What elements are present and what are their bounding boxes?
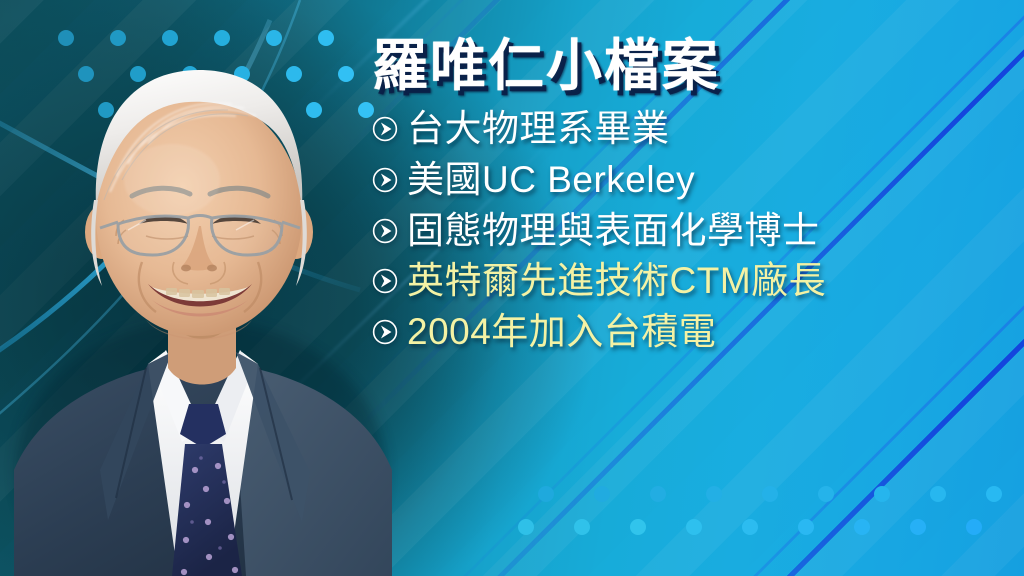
dot <box>966 519 982 535</box>
dot <box>318 30 334 46</box>
dot <box>182 66 198 82</box>
dot <box>98 102 114 118</box>
dot <box>874 486 890 502</box>
dot-row <box>538 486 1002 502</box>
dot <box>518 519 534 535</box>
graphic-stage: 羅唯仁小檔案 台大物理系畢業 美國UC Berkeley <box>0 0 1024 576</box>
dot <box>214 30 230 46</box>
list-item: 台大物理系畢業 <box>372 107 1012 151</box>
dot <box>594 486 610 502</box>
dot <box>762 486 778 502</box>
dot <box>110 30 126 46</box>
list-item: 美國UC Berkeley <box>372 158 1012 202</box>
list-item-label: 英特爾先進技術CTM廠長 <box>407 259 826 303</box>
dot <box>306 102 322 118</box>
list-item-label: 固態物理與表面化學博士 <box>407 209 820 253</box>
circled-play-arrow-icon <box>372 167 398 193</box>
list-item: 2004年加入台積電 <box>372 310 1012 354</box>
dot <box>706 486 722 502</box>
list-item: 固態物理與表面化學博士 <box>372 209 1012 253</box>
dot <box>538 486 554 502</box>
dot <box>150 102 166 118</box>
dot <box>986 486 1002 502</box>
dot-row <box>98 102 374 118</box>
dot <box>78 66 94 82</box>
dot <box>798 519 814 535</box>
list-item-label: 美國UC Berkeley <box>407 158 695 202</box>
dot-row <box>78 66 374 82</box>
dot <box>686 519 702 535</box>
dot <box>58 30 74 46</box>
dot <box>286 66 302 82</box>
dot-row <box>518 519 1002 535</box>
list-item-label: 台大物理系畢業 <box>407 107 670 151</box>
dot <box>742 519 758 535</box>
profile-bullet-list: 台大物理系畢業 美國UC Berkeley 固態物理與表面化學博士 <box>372 107 1012 353</box>
dot <box>162 30 178 46</box>
dot <box>630 519 646 535</box>
dot <box>266 30 282 46</box>
dot-grid-bottom-right <box>538 486 1002 552</box>
dot-row <box>58 30 374 46</box>
dot <box>338 66 354 82</box>
circled-play-arrow-icon <box>372 116 398 142</box>
profile-card-content: 羅唯仁小檔案 台大物理系畢業 美國UC Berkeley <box>372 36 1012 361</box>
dot <box>910 519 926 535</box>
dot <box>254 102 270 118</box>
list-item: 英特爾先進技術CTM廠長 <box>372 259 1012 303</box>
dot <box>818 486 834 502</box>
dot <box>130 66 146 82</box>
circled-play-arrow-icon <box>372 218 398 244</box>
dot <box>574 519 590 535</box>
dot <box>234 66 250 82</box>
page-title: 羅唯仁小檔案 <box>372 36 1012 95</box>
dot <box>854 519 870 535</box>
list-item-label: 2004年加入台積電 <box>407 310 716 354</box>
dot <box>930 486 946 502</box>
dot <box>650 486 666 502</box>
circled-play-arrow-icon <box>372 319 398 345</box>
circled-play-arrow-icon <box>372 268 398 294</box>
dot-grid-top-left <box>58 30 374 138</box>
dot <box>202 102 218 118</box>
